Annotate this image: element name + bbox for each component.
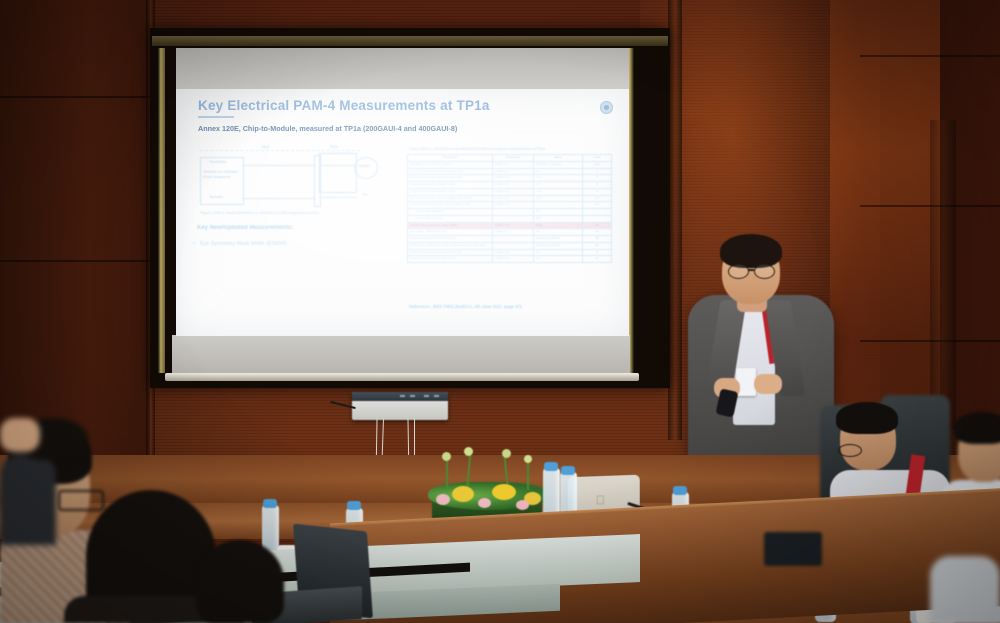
diagram-label-receiver: Receiver [210,195,223,199]
table-row: Transition time, 20% to 80% (min)120E.3.… [408,256,612,263]
cell-parameter: Differential termination mismatch (max) [408,249,493,256]
table-row: Single-ended output voltage (min)120E.3.… [408,188,612,195]
table-header-row: Parameter Reference Value Units [408,155,612,162]
diagram-label-transmitter: Transmitter [209,160,226,164]
cell-units [583,209,612,216]
cell-units: dB [583,236,612,243]
glasses-bridge [748,269,754,271]
cell-reference [493,215,534,222]
cell-value: 10 [534,249,583,256]
cell-reference: 120E.3.1.5 [493,202,534,209]
cell-reference: 120E.3.1.1 [493,161,534,168]
spec-table: Parameter Reference Value Units Signalin… [407,154,612,263]
diagram-label-module: Module [359,164,370,168]
cell-reference: 120E.3.1.4 [493,195,534,202]
cell-reference: 120E.3.1.6 [493,222,534,229]
attendee-shirt [0,455,56,545]
table-row: Transmitter enabled900 [408,215,612,222]
cell-parameter: Common to differential mode conversion r… [408,242,493,249]
table-row: AC common-mode output voltage (max, RMS)… [408,195,612,202]
indicator-light [410,395,415,397]
cell-parameter: Eye height, differential (min) [408,229,493,236]
bottle-cap [561,466,575,475]
screen-control-box[interactable] [352,392,448,420]
cell-reference: 120E.3.1.8 [493,249,534,256]
title-underline [198,116,234,118]
table-row: Transmitter disabled35 [408,209,612,216]
table-row: Common to differential mode conversion r… [408,242,612,249]
table-row: Differential termination mismatch (max)1… [408,249,612,256]
cell-reference: 120E.3.1.2 [493,175,534,182]
attendee-hair [196,540,284,623]
screen-left-edge [158,48,165,373]
section-heading: Key New/Updated Measurements: [197,225,293,231]
screen-bottom-bar [165,373,639,381]
bottle-cap [673,486,687,495]
indicator-light [424,395,429,397]
cell-parameter: Single-ended output voltage (min) [408,188,493,195]
diagram-label-tp1a: TP1a [330,145,338,149]
bullet-item: Eye Symmetry Mask Width (ESMW) [200,241,287,247]
cell-units: V [583,168,612,175]
projected-slide: Key Electrical PAM-4 Measurements at TP1… [176,89,629,336]
cell-parameter: DC common mode output voltage (max) [408,168,493,175]
cell-units: dB [583,242,612,249]
attendee-hair [836,402,898,434]
device [764,532,822,566]
glasses-icon [728,264,749,279]
cell-units: UI [583,222,612,229]
table-row: DC common mode output voltage (max)120E.… [408,168,612,175]
col-units: Units [583,155,612,162]
cell-parameter: Transmitter disabled [408,209,493,216]
company-round-logo-icon [600,101,613,114]
wall-trim [930,120,956,430]
screen-unlit-top [176,48,629,90]
cell-reference: 120E.3.1.9 [493,256,534,263]
cell-units: V [583,175,612,182]
cell-reference [493,242,534,249]
screen-roller-housing [152,36,668,46]
slide-subtitle: Annex 120E, Chip-to-Module, measured at … [198,124,457,133]
wall-trim [668,0,682,440]
col-parameter: Parameter [408,155,493,162]
cell-units: V [583,182,612,189]
cell-reference: 120E.3.1.7 [493,229,534,236]
table-row: DC common mode output voltage (min)120E.… [408,175,612,182]
table-row: ESMW (Eye symmetry mask width)120E.3.1.6… [408,222,612,229]
wall-seam [0,96,150,98]
cell-value: 2.5 [534,182,583,189]
table-row: Differential output return loss (min)Equ… [408,236,612,243]
cell-parameter: Transmitter enabled [408,215,493,222]
indicator-light [434,395,439,397]
conference-room-photo: Key Electrical PAM-4 Measurements at TP1… [0,0,1000,623]
attendee-shirt [930,556,1000,623]
cell-reference: 120E.3.1.3 [493,182,534,189]
col-value: Value [534,155,583,162]
table-row: Single-ended output voltage (max)120E.3.… [408,182,612,189]
cell-parameter: Transition time, 20% to 80% (min) [408,256,493,263]
cell-parameter: Signaling rate, per lane (range) [408,161,493,168]
slide-title: Key Electrical PAM-4 Measurements at TP1… [198,98,490,113]
cell-value: 17.5 [534,195,583,202]
attendee-hand [0,418,40,452]
table-row: Eye height, differential (min)120E.3.1.7… [408,229,612,236]
presenter-hair [720,234,782,268]
wall-seam [860,55,1000,57]
glasses-icon [838,444,862,457]
col-reference: Reference [493,155,534,162]
cell-value: -0.4 [534,188,583,195]
screen-unlit-bottom [172,335,630,377]
cell-value: 32 [534,229,583,236]
cell-value: -0.3 [534,175,583,182]
indicator-light [400,395,405,397]
wall-seam [0,260,150,262]
table-row: Differential peak-to-peak output voltage… [408,202,612,209]
cell-value: 0.22 [534,222,583,229]
apple-logo-icon:  [596,494,606,506]
cell-units: mV [583,229,612,236]
wall-left-panel [0,0,150,460]
cell-parameter: Differential output return loss (min) [408,236,493,243]
diagram-label-host: Host [262,145,269,149]
cell-value: 35 [534,209,583,216]
cell-units: ps [583,256,612,263]
table-caption: Table 120E-1—200GAUI-4 and 400GAUI-8 C2M… [409,147,545,151]
cell-units: mV [583,195,612,202]
cell-parameter: ESMW (Eye symmetry mask width) [408,222,493,229]
cell-value: Equation (120E-1) [534,236,583,243]
cell-value [534,202,583,209]
cell-value: Equation (120E-2) [534,242,583,249]
cell-units [583,215,612,222]
cell-value: 900 [534,215,583,222]
cell-reference: 120E.3.1.2 [493,168,534,175]
reference-note: Reference : IEEE P802.3bs/D3.2, 4th June… [409,304,522,309]
cell-reference [493,236,534,243]
cell-units: V [583,188,612,195]
cell-value: 9.5 [534,256,583,263]
cell-parameter: AC common-mode output voltage (max, RMS) [408,195,493,202]
cell-parameter: Differential peak-to-peak output voltage… [408,202,493,209]
diagram-label-host-component: 200GAUI-4 or 400GAUI-8 host component [203,170,239,180]
attendee-hair [954,412,1000,444]
bottle-cap [347,501,361,510]
cell-reference: 120E.3.1.3 [493,188,534,195]
cell-reference [493,209,534,216]
bottle-cap [263,499,277,508]
presenter-right-hand [754,374,782,394]
glasses-icon [58,490,104,511]
cell-parameter: DC common mode output voltage (min) [408,175,493,182]
diagram-label-tp4: TP4 [362,193,368,197]
cell-value: 1.9 [534,168,583,175]
compliance-point-diagram: Host TP1a Transmitter 200GAUI-4 or 400GA… [196,145,376,207]
glasses-icon [754,264,775,279]
cell-units: mV [583,202,612,209]
cell-units: % [583,249,612,256]
table-row: Signaling rate, per lane (range)120E.3.1… [408,161,612,168]
cell-value: 26.5625 ± 100 ppm [534,161,583,168]
bottle-cap [544,462,558,471]
cell-parameter: Single-ended output voltage (max) [408,182,493,189]
figure-caption: Figure 120E-5—Host 200GAUI-4 or 400GAUI-… [200,211,319,215]
cell-units: GBd [583,161,612,168]
